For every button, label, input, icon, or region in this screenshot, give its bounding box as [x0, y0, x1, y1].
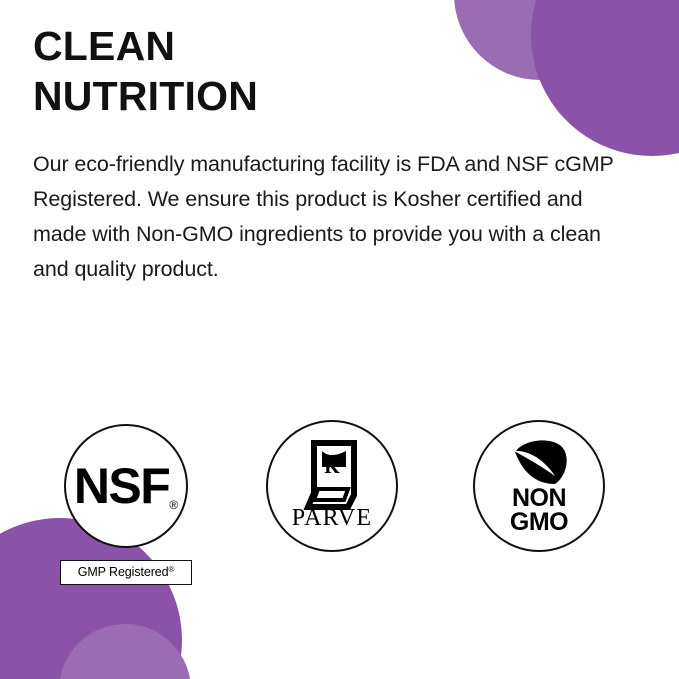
- page-title: CLEAN NUTRITION: [33, 22, 645, 121]
- badge-non-gmo: NON GMO: [473, 420, 605, 552]
- nsf-wordmark: NSF®: [66, 461, 186, 511]
- registered-trademark-icon: ®: [168, 565, 174, 574]
- badge-nsf: NSF® GMP Registered®: [60, 420, 188, 548]
- parve-circle-outline: K PARVE: [266, 420, 398, 552]
- gmp-registered-text: GMP Registered: [78, 565, 169, 579]
- body-paragraph: Our eco-friendly manufacturing facility …: [33, 147, 641, 286]
- non-gmo-label: NON GMO: [475, 486, 603, 534]
- certification-badge-row: NSF® GMP Registered® K PARVE: [0, 420, 679, 600]
- kosher-mark: K PARVE: [268, 422, 396, 550]
- parve-label: PARVE: [268, 506, 396, 530]
- badge-kosher-parve: K PARVE: [266, 420, 398, 552]
- nsf-wordmark-text: NSF: [74, 458, 170, 514]
- kosher-letter-k: K: [324, 456, 340, 479]
- decorative-circle-bottom-left-light: [59, 624, 191, 679]
- non-gmo-circle-outline: NON GMO: [473, 420, 605, 552]
- registered-trademark-icon: ®: [169, 498, 178, 512]
- product-info-panel: CLEAN NUTRITION Our eco-friendly manufac…: [0, 0, 679, 679]
- copy-block: CLEAN NUTRITION Our eco-friendly manufac…: [33, 22, 645, 287]
- gmp-registered-label: GMP Registered®: [60, 560, 192, 585]
- leaf-icon: [505, 438, 573, 486]
- nsf-circle-outline: NSF®: [64, 424, 188, 548]
